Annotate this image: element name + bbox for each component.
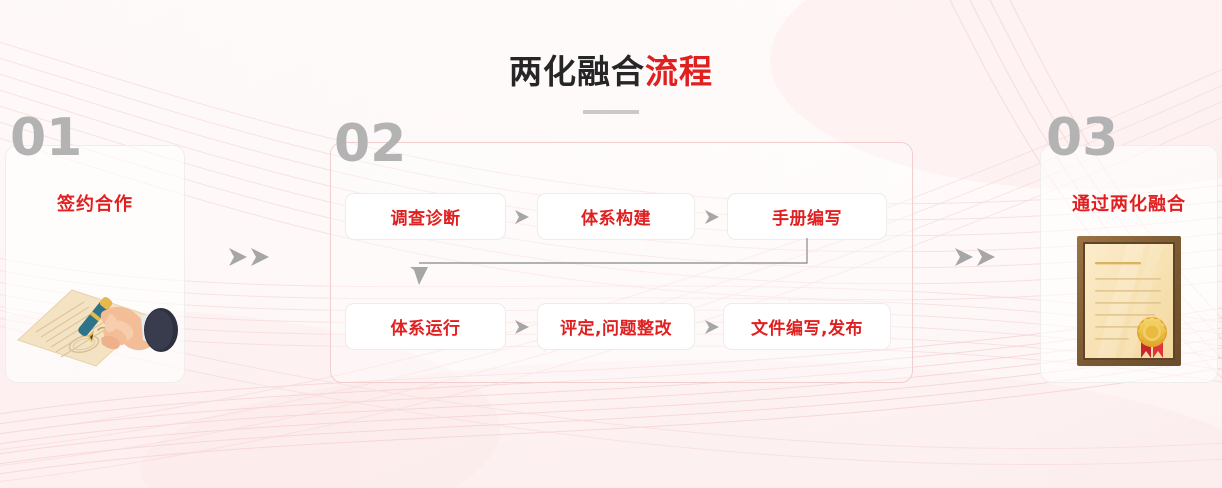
chevron-right-icon-bottom-2 bbox=[702, 317, 722, 337]
step-card-01[interactable]: 签约合作 bbox=[5, 145, 185, 383]
double-chevron-right-icon-left bbox=[227, 244, 273, 270]
flow-box-system-operation[interactable]: 体系运行 bbox=[345, 303, 506, 350]
double-chevron-right-icon-right bbox=[953, 244, 999, 270]
step-number-03: 03 bbox=[1046, 112, 1118, 164]
chevron-right-icon-bottom-1 bbox=[512, 317, 532, 337]
flow-box-manual-writing[interactable]: 手册编写 bbox=[727, 193, 887, 240]
contract-signing-icon bbox=[6, 268, 184, 368]
flow-box-document-writing-release[interactable]: 文件编写,发布 bbox=[723, 303, 891, 350]
step-card-03-title: 通过两化融合 bbox=[1041, 190, 1217, 216]
page-title: 两化融合流程 bbox=[0, 52, 1222, 92]
chevron-right-icon-top-1 bbox=[512, 207, 532, 227]
title-underline-rule bbox=[583, 110, 639, 114]
flow-box-system-construction[interactable]: 体系构建 bbox=[537, 193, 695, 240]
step-number-01: 01 bbox=[10, 112, 82, 164]
flow-box-investigate-diagnose[interactable]: 调查诊断 bbox=[345, 193, 506, 240]
page-title-primary: 两化融合 bbox=[509, 52, 645, 91]
step-card-03[interactable]: 通过两化融合 bbox=[1040, 145, 1218, 383]
flow-box-evaluation-rectification[interactable]: 评定,问题整改 bbox=[537, 303, 695, 350]
step-number-02: 02 bbox=[334, 118, 406, 170]
page-title-accent: 流程 bbox=[645, 52, 713, 91]
chevron-right-icon-top-2 bbox=[702, 207, 722, 227]
certificate-icon bbox=[1041, 234, 1217, 368]
step-card-01-title: 签约合作 bbox=[6, 190, 184, 216]
